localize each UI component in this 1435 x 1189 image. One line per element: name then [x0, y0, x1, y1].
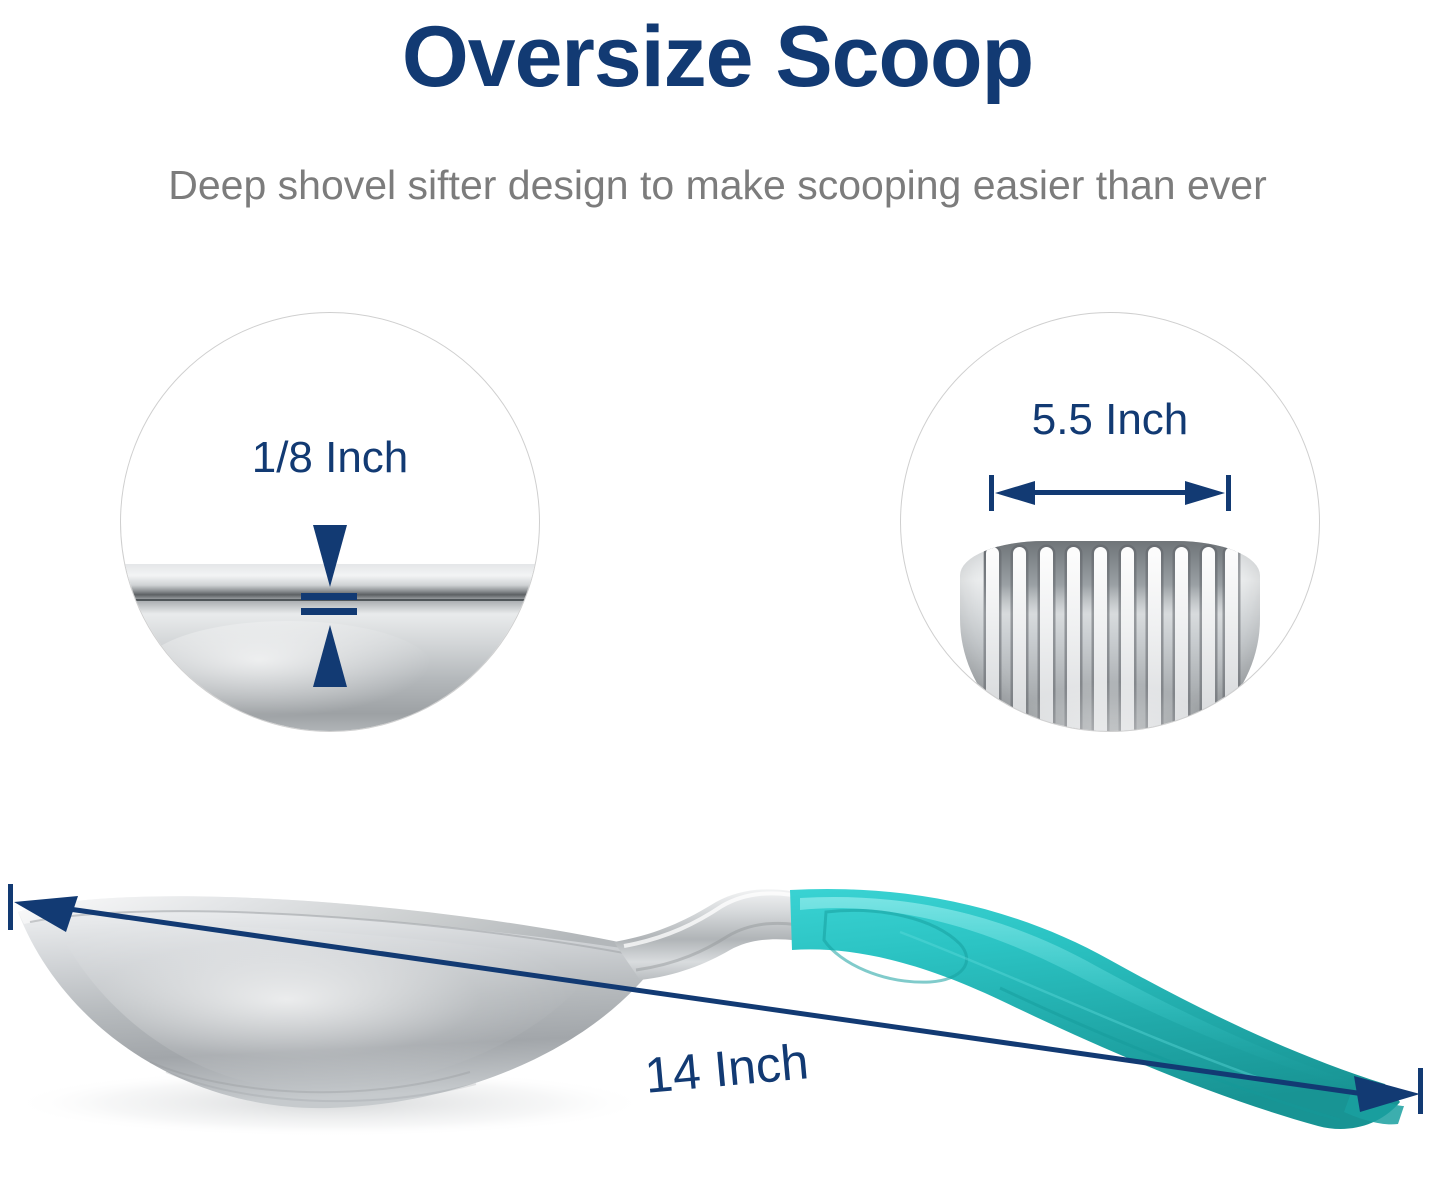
product-illustration: [0, 840, 1435, 1189]
callout-width: 5.5 Inch: [900, 312, 1320, 732]
callout-thickness-label: 1/8 Inch: [121, 433, 539, 483]
thickness-gap-bar-bottom: [301, 608, 357, 615]
thickness-arrow-up-icon: [313, 625, 347, 687]
thickness-arrow-down-icon: [313, 525, 347, 587]
page-title: Oversize Scoop: [0, 8, 1435, 107]
sifter-base-highlight: [996, 683, 1224, 732]
steel-highlight: [143, 621, 433, 717]
width-dimension-arrow-icon: [989, 473, 1231, 513]
callout-thickness: 1/8 Inch: [120, 312, 540, 732]
callout-width-label: 5.5 Inch: [901, 395, 1319, 445]
page-subtitle: Deep shovel sifter design to make scoopi…: [0, 162, 1435, 209]
handle-grip: [790, 889, 1400, 1129]
thickness-gap-bar-top: [301, 593, 357, 600]
slotted-sifter-head-image: [960, 541, 1260, 732]
handle-neck: [614, 889, 816, 980]
product-infographic: Oversize Scoop Deep shovel sifter design…: [0, 0, 1435, 1189]
